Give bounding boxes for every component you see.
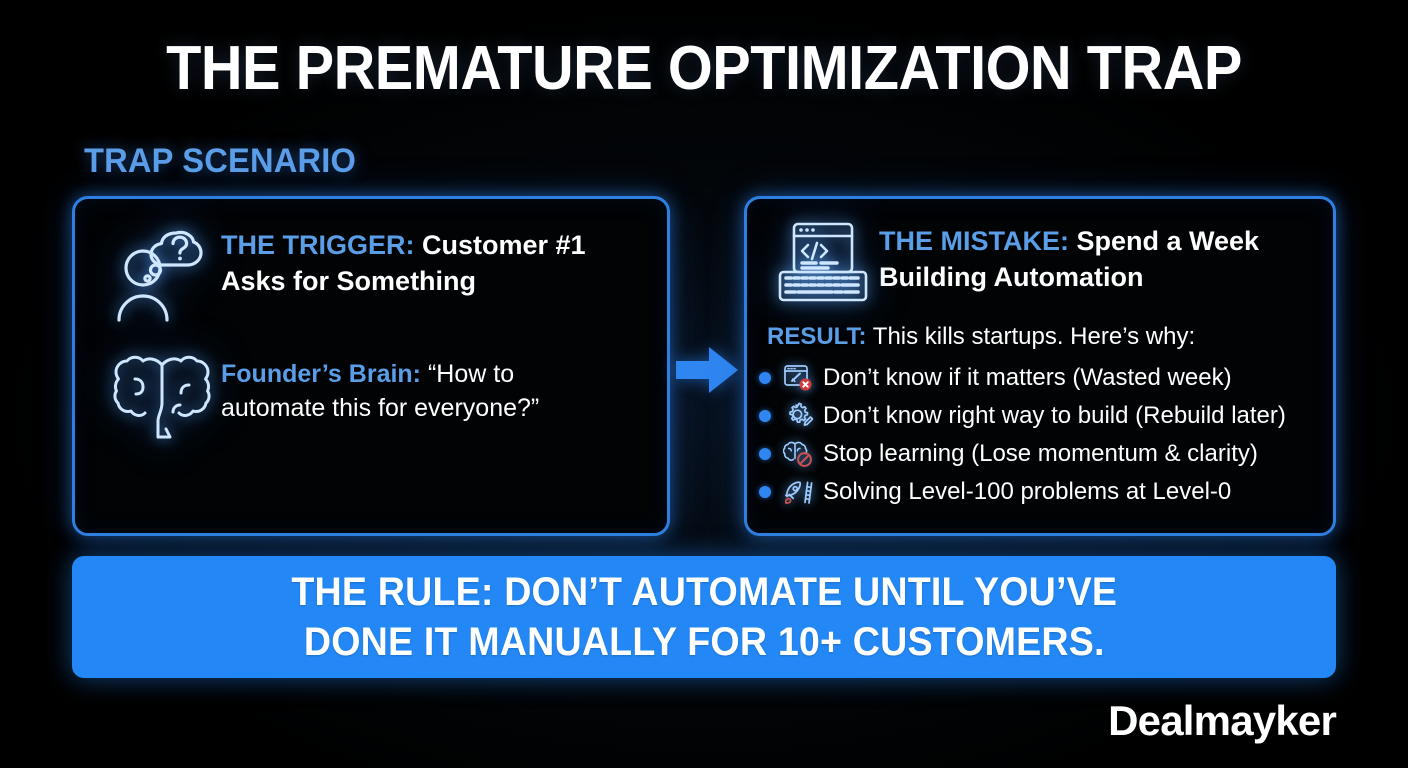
brain-question-icon [103, 353, 221, 441]
list-item: Don’t know if it matters (Wasted week) [755, 359, 1330, 397]
founder-brain-text-block: Founder’s Brain: “How to automate this f… [221, 353, 571, 425]
reason-text: Don’t know if it matters (Wasted week) [823, 366, 1232, 390]
trap-scenario-card: THE TRIGGER: Customer #1 Asks for Someth… [72, 196, 670, 536]
reason-text: Don’t know right way to build (Rebuild l… [823, 404, 1286, 428]
brain-blocked-icon [781, 439, 815, 469]
brand-logo: Dealmayker [1108, 697, 1336, 745]
result-label: RESULT: [767, 323, 867, 350]
rule-banner: THE RULE: DON’T AUTOMATE UNTIL YOU’VE DO… [72, 556, 1336, 678]
reason-list: Don’t know if it matters (Wasted week) D… [755, 359, 1330, 511]
trigger-label: THE TRIGGER: [221, 230, 415, 260]
gear-pencil-icon [781, 401, 815, 431]
bullet-dot-icon [759, 372, 771, 384]
code-window-keyboard-icon [767, 219, 879, 303]
reason-text: Solving Level-100 problems at Level-0 [823, 480, 1231, 504]
mistake-headline: THE MISTAKE: Spend a Week Building Autom… [879, 223, 1299, 295]
right-arrow-icon [676, 346, 738, 394]
bullet-dot-icon [759, 448, 771, 460]
mistake-label: THE MISTAKE: [879, 226, 1069, 256]
mistake-row: THE MISTAKE: Spend a Week Building Autom… [767, 219, 1299, 303]
list-item: Stop learning (Lose momentum & clarity) [755, 435, 1330, 473]
bullet-dot-icon [759, 410, 771, 422]
rule-line-1: THE RULE: DON’T AUTOMATE UNTIL YOU’VE [291, 567, 1117, 617]
trigger-row: THE TRIGGER: Customer #1 Asks for Someth… [103, 223, 651, 323]
result-line: RESULT: This kills startups. Here’s why: [767, 323, 1195, 352]
founder-brain-line: Founder’s Brain: “How to automate this f… [221, 357, 571, 425]
bullet-dot-icon [759, 486, 771, 498]
trigger-text-block: THE TRIGGER: Customer #1 Asks for Someth… [221, 223, 651, 299]
rule-text: THE RULE: DON’T AUTOMATE UNTIL YOU’VE DO… [291, 567, 1117, 668]
list-item: Solving Level-100 problems at Level-0 [755, 473, 1330, 511]
founder-brain-label: Founder’s Brain: [221, 360, 421, 388]
slide-canvas: THE PREMATURE OPTIMIZATION TRAP TRAP SCE… [0, 0, 1408, 768]
reason-text: Stop learning (Lose momentum & clarity) [823, 442, 1258, 466]
founder-brain-row: Founder’s Brain: “How to automate this f… [103, 353, 571, 441]
mistake-text-block: THE MISTAKE: Spend a Week Building Autom… [879, 219, 1299, 295]
result-text: This kills startups. Here’s why: [867, 323, 1196, 350]
trigger-headline: THE TRIGGER: Customer #1 Asks for Someth… [221, 227, 651, 299]
section-kicker: TRAP SCENARIO [84, 142, 356, 181]
person-thought-bubble-question-icon [103, 223, 221, 323]
mistake-card: THE MISTAKE: Spend a Week Building Autom… [744, 196, 1336, 536]
page-title: THE PREMATURE OPTIMIZATION TRAP [49, 38, 1358, 100]
rule-line-2: DONE IT MANUALLY FOR 10+ CUSTOMERS. [291, 617, 1117, 667]
browser-error-icon [781, 363, 815, 393]
rocket-ladder-icon [781, 477, 815, 507]
list-item: Don’t know right way to build (Rebuild l… [755, 397, 1330, 435]
